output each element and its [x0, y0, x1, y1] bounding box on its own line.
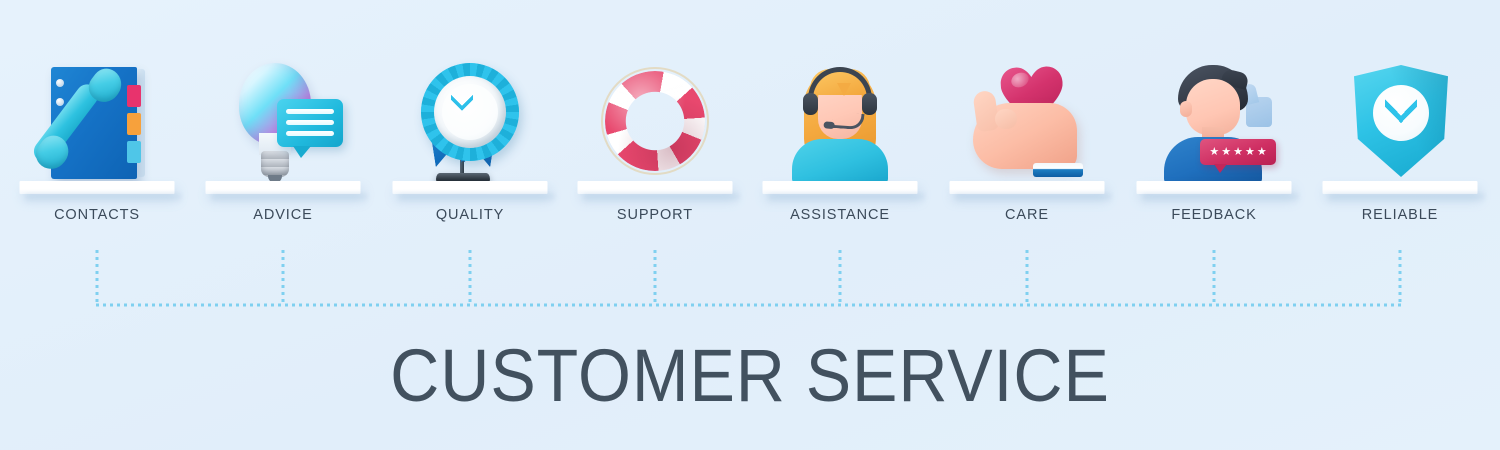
lifebuoy-icon	[595, 61, 715, 183]
item-support[interactable]: SUPPORT	[562, 55, 748, 240]
pedestal-shelf	[1137, 181, 1292, 194]
item-advice[interactable]: ADVICE	[190, 55, 376, 240]
item-label-assistance: ASSISTANCE	[747, 207, 933, 223]
icon-area-feedback: ★ ★ ★ ★ ★	[1121, 55, 1307, 183]
pedestal-shelf	[763, 181, 918, 194]
award-rosette-icon	[410, 61, 530, 183]
icon-area-reliable	[1307, 55, 1493, 183]
icon-area-care	[934, 55, 1120, 183]
star-icon: ★	[1233, 147, 1243, 158]
item-label-advice: ADVICE	[190, 207, 376, 223]
item-label-feedback: FEEDBACK	[1121, 207, 1307, 223]
star-rating-badge: ★ ★ ★ ★ ★	[1200, 139, 1276, 165]
lightbulb-chat-icon	[223, 61, 343, 183]
hand-heart-icon	[967, 61, 1087, 183]
page-title: CUSTOMER SERVICE	[60, 333, 1440, 419]
items-row: CONTACTS ADVICE	[0, 0, 1500, 240]
pedestal-shelf	[950, 181, 1105, 194]
item-assistance[interactable]: ASSISTANCE	[747, 55, 933, 240]
pedestal-shelf	[393, 181, 548, 194]
star-icon: ★	[1257, 147, 1267, 158]
thumbs-up-icon	[1246, 97, 1272, 127]
icon-area-assistance	[747, 55, 933, 183]
pedestal-shelf	[578, 181, 733, 194]
item-label-contacts: CONTACTS	[4, 207, 190, 223]
headset-operator-icon	[780, 61, 900, 183]
star-icon: ★	[1209, 147, 1219, 158]
pedestal-shelf	[206, 181, 361, 194]
user-rating-stars-icon: ★ ★ ★ ★ ★	[1154, 61, 1274, 183]
star-icon: ★	[1221, 147, 1231, 158]
pedestal-shelf	[20, 181, 175, 194]
shield-check-icon	[1340, 61, 1460, 183]
phone-book-icon	[37, 61, 157, 183]
pedestal-shelf	[1323, 181, 1478, 194]
item-label-reliable: RELIABLE	[1307, 207, 1493, 223]
icon-area-support	[562, 55, 748, 183]
item-care[interactable]: CARE	[934, 55, 1120, 240]
infographic-canvas: CONTACTS ADVICE	[0, 0, 1500, 450]
item-label-quality: QUALITY	[377, 207, 563, 223]
item-label-care: CARE	[934, 207, 1120, 223]
check-chevron-icon	[1385, 97, 1417, 127]
check-chevron-icon	[451, 93, 473, 115]
item-feedback[interactable]: ★ ★ ★ ★ ★ FEEDBACK	[1121, 55, 1307, 240]
icon-area-contacts	[4, 55, 190, 183]
item-contacts[interactable]: CONTACTS	[4, 55, 190, 240]
chat-bubble-icon	[277, 99, 343, 147]
item-quality[interactable]: QUALITY	[377, 55, 563, 240]
star-icon: ★	[1245, 147, 1255, 158]
icon-area-advice	[190, 55, 376, 183]
item-label-support: SUPPORT	[562, 207, 748, 223]
icon-area-quality	[377, 55, 563, 183]
item-reliable[interactable]: RELIABLE	[1307, 55, 1493, 240]
